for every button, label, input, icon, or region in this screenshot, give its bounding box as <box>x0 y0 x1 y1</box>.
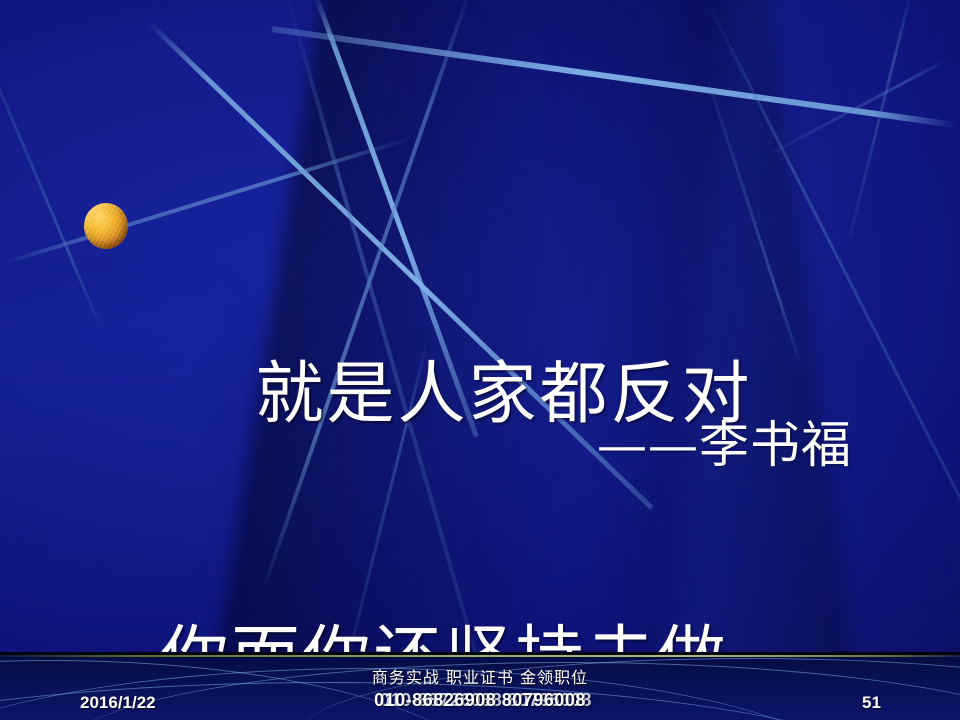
presentation-slide: 就是人家都反对 你而你还坚持去做。 ——李书福 2016/1/22 商务实战 职… <box>0 0 960 720</box>
footer-divider-olive <box>0 655 960 657</box>
footer-page-number: 51 <box>862 693 881 713</box>
footer-phone-primary: 010-86826908 80796008 <box>0 690 960 711</box>
footer-slogan: 商务实战 职业证书 金领职位 <box>0 664 960 688</box>
footer-phone-group: 010-88726088 80796008 010-86826908 80796… <box>0 690 960 714</box>
slide-footer: 2016/1/22 商务实战 职业证书 金领职位 010-88726088 80… <box>0 652 960 720</box>
quote-attribution: ——李书福 <box>0 414 960 476</box>
